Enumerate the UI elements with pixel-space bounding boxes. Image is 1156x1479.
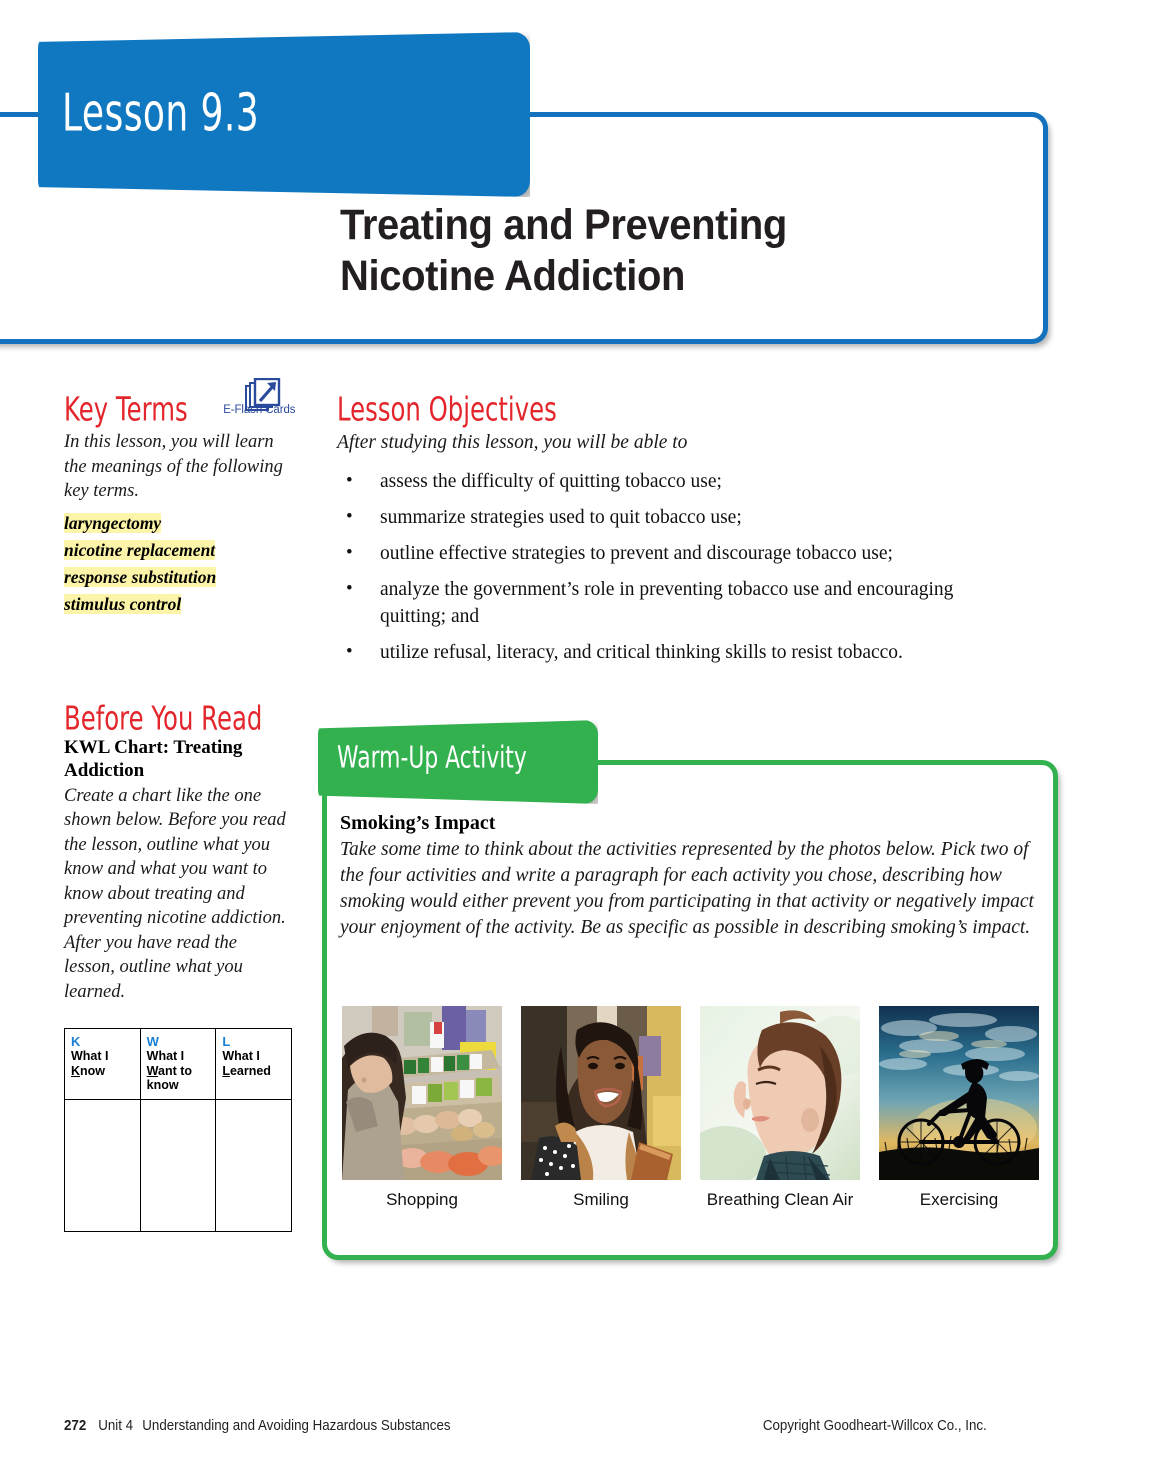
lesson-objectives-heading: Lesson Objectives [337, 392, 925, 426]
before-you-read-body: Create a chart like the one shown below.… [64, 784, 292, 1005]
kwl-header-row: K What I Know W What I Want to know L Wh… [65, 1029, 292, 1100]
kwl-letter-k: K [71, 1034, 134, 1049]
activity-photo-cell: 99 [342, 1006, 502, 1210]
key-term-label: stimulus control [64, 594, 181, 614]
left-sidebar-column: Key Terms E-Flash Cards In this lesson, … [64, 392, 292, 1232]
warm-up-activity-tab-label: Warm-Up Activity [337, 740, 527, 775]
kwl-header-text-l-underlined: L [222, 1064, 230, 1078]
key-term-item: stimulus control [64, 593, 292, 615]
key-terms-list: laryngectomy nicotine replacement respon… [64, 512, 292, 615]
key-term-label: response substitution [64, 567, 216, 587]
objective-item: analyze the government’s role in prevent… [337, 576, 980, 630]
key-term-item: response substitution [64, 566, 292, 588]
warm-up-activity-title: Smoking’s Impact [340, 812, 1040, 835]
page-footer: 272 Unit 4 Understanding and Avoiding Ha… [64, 1418, 987, 1434]
activity-photo-caption: Smiling [521, 1190, 681, 1210]
page-number: 272 [64, 1418, 86, 1434]
lesson-objectives-list: assess the difficulty of quitting tobacc… [337, 468, 1037, 666]
kwl-header-text-l-line1: What I [222, 1049, 260, 1063]
key-term-label: nicotine replacement [64, 540, 215, 560]
key-term-item: nicotine replacement [64, 539, 292, 561]
e-flash-cards-label: E-Flash Cards [223, 404, 295, 416]
lesson-objectives-intro: After studying this lesson, you will be … [337, 432, 1037, 454]
key-terms-intro: In this lesson, you will learn the meani… [64, 430, 292, 504]
footer-left-group: 272 Unit 4 Understanding and Avoiding Ha… [64, 1418, 451, 1434]
woman-shopping-produce-market-photo: 99 [342, 1006, 502, 1180]
kwl-header-text-w-line1: What I [147, 1049, 185, 1063]
kwl-header-text-w-underlined: W [147, 1064, 158, 1078]
footer-copyright: Copyright Goodheart-Willcox Co., Inc. [763, 1418, 987, 1434]
kwl-header-cell-k: K What I Know [65, 1029, 141, 1100]
warm-up-activity-body: Smoking’s Impact Take some time to think… [340, 812, 1040, 941]
kwl-blank-cell-l[interactable] [216, 1099, 292, 1231]
kwl-header-cell-l: L What I Learned [216, 1029, 292, 1100]
warm-up-activity-instructions: Take some time to think about the activi… [340, 837, 1040, 941]
key-terms-heading: Key Terms [64, 392, 188, 426]
kwl-header-text-k-underlined: K [71, 1064, 80, 1078]
activity-photo-caption: Exercising [879, 1190, 1039, 1210]
kwl-subheading: KWL Chart: Treating Addiction [64, 736, 292, 782]
e-flash-cards-link[interactable]: E-Flash Cards [223, 378, 292, 424]
objective-item: outline effective strategies to prevent … [337, 540, 1037, 567]
activity-photo-row: 99 [342, 1006, 1042, 1210]
kwl-chart: K What I Know W What I Want to know L Wh… [64, 1028, 292, 1232]
footer-unit: Unit 4 [98, 1418, 133, 1434]
kwl-blank-cell-w[interactable] [140, 1099, 216, 1231]
kwl-header-cell-w: W What I Want to know [140, 1029, 216, 1100]
page-header: Lesson 9.3 Treating and Preventing Nicot… [0, 0, 1156, 370]
activity-photo-cell: Breathing Clean Air [700, 1006, 860, 1210]
kwl-blank-row [65, 1099, 292, 1231]
young-man-breathing-outdoors-photo [700, 1006, 860, 1180]
before-you-read-section: Before You Read KWL Chart: Treating Addi… [64, 701, 292, 1232]
activity-photo-caption: Breathing Clean Air [686, 1190, 874, 1210]
cyclist-silhouette-sunset-photo [879, 1006, 1039, 1180]
smiling-student-with-books-photo [521, 1006, 681, 1180]
page-title-line-1: Treating and Preventing [340, 200, 935, 251]
kwl-letter-w: W [147, 1034, 210, 1049]
kwl-header-text-k-rest: now [80, 1064, 105, 1078]
kwl-letter-l: L [222, 1034, 285, 1049]
objective-item: summarize strategies used to quit tobacc… [337, 504, 1037, 531]
key-term-item: laryngectomy [64, 512, 292, 534]
page-title-line-2: Nicotine Addiction [340, 251, 935, 302]
key-term-label: laryngectomy [64, 513, 161, 533]
page-title: Treating and Preventing Nicotine Addicti… [340, 200, 935, 302]
before-you-read-heading: Before You Read [64, 701, 256, 735]
kwl-header-text-k-line1: What I [71, 1049, 109, 1063]
key-terms-header: Key Terms E-Flash Cards [64, 392, 292, 430]
lesson-number-label: Lesson 9.3 [62, 83, 259, 143]
kwl-header-text-l-rest: earned [230, 1064, 271, 1078]
lesson-objectives-section: Lesson Objectives After studying this le… [337, 392, 1037, 675]
activity-photo-caption: Shopping [342, 1190, 502, 1210]
objective-item: utilize refusal, literacy, and critical … [337, 639, 1037, 666]
footer-unit-title: Understanding and Avoiding Hazardous Sub… [142, 1418, 450, 1434]
objective-item: assess the difficulty of quitting tobacc… [337, 468, 1037, 495]
activity-photo-cell: Smiling [521, 1006, 681, 1210]
warm-up-activity-section: Warm-Up Activity Smoking’s Impact Take s… [310, 716, 1070, 1276]
activity-photo-cell: Exercising [879, 1006, 1039, 1210]
kwl-blank-cell-k[interactable] [65, 1099, 141, 1231]
